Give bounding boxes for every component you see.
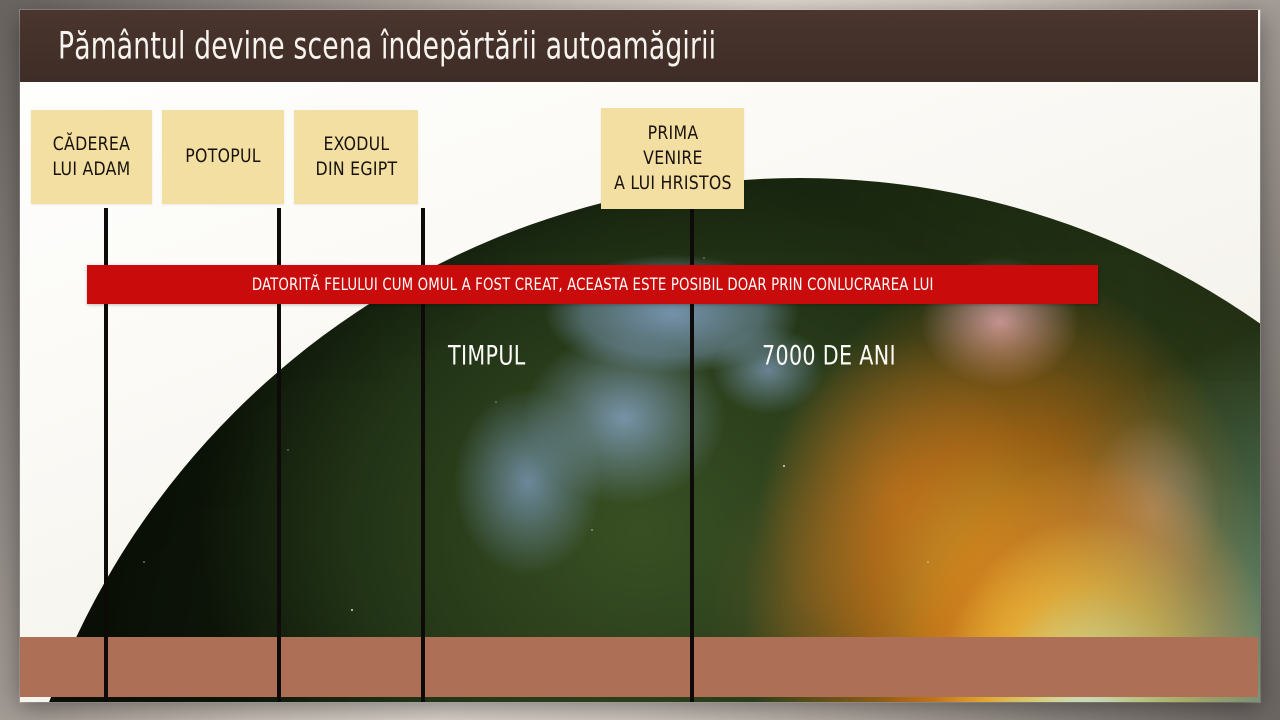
time-axis-bar [20, 637, 1258, 697]
time-axis-label-span: 7000 DE ANI [762, 341, 896, 372]
event-box-exodul-din-egipt[interactable]: EXODUL DIN EGIPT [294, 110, 418, 204]
event-label-line1: POTOPUL [185, 144, 261, 169]
statement-banner-text: DATORITĂ FELULUI CUM OMUL A FOST CREAT, … [252, 275, 934, 295]
slide-title: Pământul devine scena îndepărtării autoa… [58, 25, 716, 68]
slide-title-bar: Pământul devine scena îndepărtării autoa… [20, 10, 1258, 82]
event-label-line1: EXODUL [315, 132, 397, 157]
slide-canvas: TIMPUL 7000 DE ANI CĂDEREA LUI ADAM POTO… [20, 10, 1260, 702]
event-label-line2: VENIRE [614, 146, 732, 171]
globe-sphere [20, 178, 1260, 702]
event-box-caderea-lui-adam[interactable]: CĂDEREA LUI ADAM [31, 110, 152, 204]
event-label-line3: A LUI HRISTOS [614, 171, 732, 196]
event-label-line1: PRIMA [614, 121, 732, 146]
statement-banner: DATORITĂ FELULUI CUM OMUL A FOST CREAT, … [87, 265, 1098, 304]
event-label-line2: LUI ADAM [52, 157, 130, 182]
event-box-prima-venire-a-lui-hristos[interactable]: PRIMA VENIRE A LUI HRISTOS [601, 108, 744, 209]
event-label-line1: CĂDEREA [52, 132, 130, 157]
event-label-line2: DIN EGIPT [315, 157, 397, 182]
time-axis-label-timpul: TIMPUL [448, 341, 526, 372]
event-box-potopul[interactable]: POTOPUL [162, 110, 284, 204]
